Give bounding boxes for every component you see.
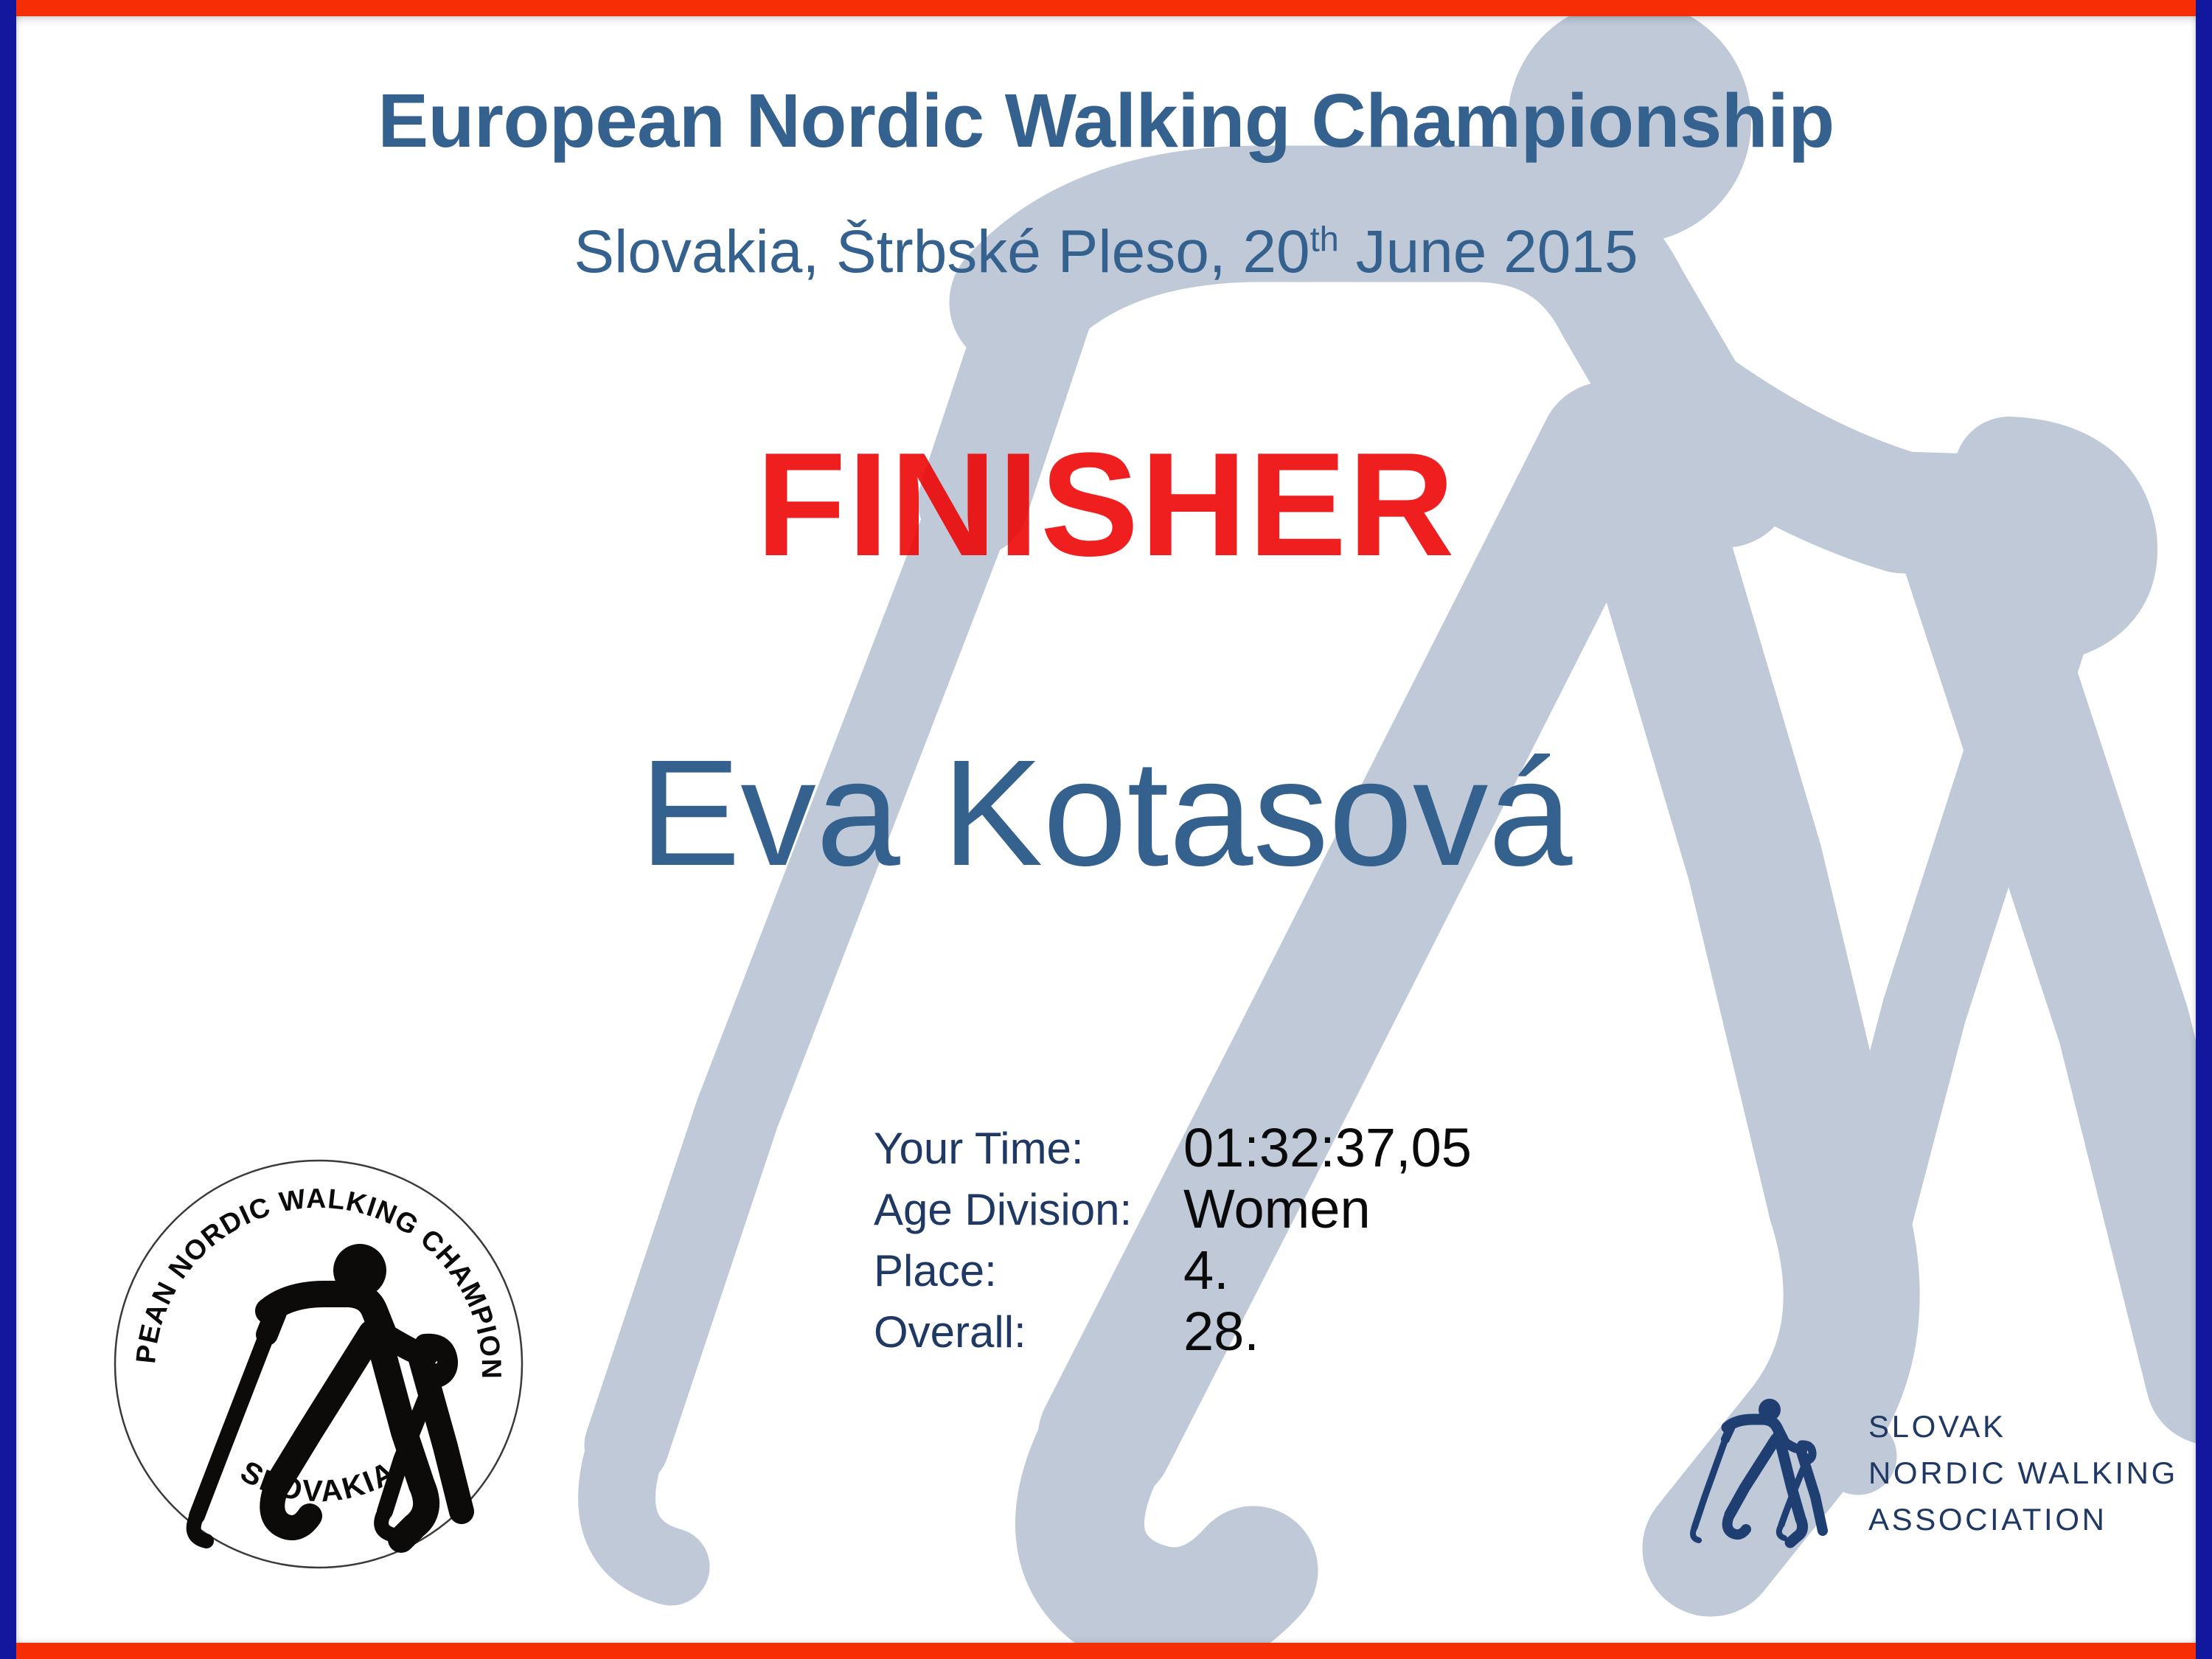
result-label-place: Place:: [874, 1245, 1183, 1296]
nordic-walker-icon-blue: [1690, 1394, 1830, 1552]
event-location-date: Slovakia, Štrbské Pleso, 20th June 2015: [0, 218, 2212, 287]
assoc-line-1: SLOVAK: [1868, 1403, 2178, 1450]
result-value-overall: 28.: [1183, 1300, 1259, 1363]
championship-logo: EUROPEAN NORDIC WALKING CHAMPIONSHIP SLO…: [112, 1158, 525, 1571]
results-block: Your Time: 01:32:37,05 Age Division: Wom…: [874, 1113, 1472, 1358]
ordinal-suffix: th: [1310, 220, 1339, 259]
result-value-time: 01:32:37,05: [1183, 1116, 1472, 1179]
border-top: [0, 0, 2212, 16]
result-label-time: Your Time:: [874, 1123, 1183, 1174]
subtitle-prefix: Slovakia, Štrbské Pleso, 20: [574, 218, 1310, 285]
border-bottom: [0, 1643, 2212, 1659]
table-row: Overall: 28.: [874, 1297, 1472, 1358]
athlete-name: Eva Kotasová: [0, 726, 2212, 900]
subtitle-suffix: June 2015: [1339, 218, 1638, 285]
result-value-place: 4.: [1183, 1239, 1229, 1301]
table-row: Age Division: Women: [874, 1175, 1472, 1236]
table-row: Place: 4.: [874, 1236, 1472, 1297]
table-row: Your Time: 01:32:37,05: [874, 1113, 1472, 1175]
certificate-page: European Nordic Walking Championship Slo…: [0, 0, 2212, 1659]
association-logo: SLOVAK NORDIC WALKING ASSOCIATION: [1690, 1382, 2147, 1563]
result-label-overall: Overall:: [874, 1307, 1183, 1357]
association-logo-text: SLOVAK NORDIC WALKING ASSOCIATION: [1868, 1403, 2178, 1543]
event-title: European Nordic Walking Championship: [0, 77, 2212, 164]
assoc-line-2: NORDIC WALKING: [1868, 1450, 2178, 1496]
result-label-age-division: Age Division:: [874, 1184, 1183, 1235]
result-value-age-division: Women: [1183, 1178, 1371, 1240]
status-badge: FINISHER: [0, 420, 2212, 590]
assoc-line-3: ASSOCIATION: [1868, 1496, 2178, 1543]
